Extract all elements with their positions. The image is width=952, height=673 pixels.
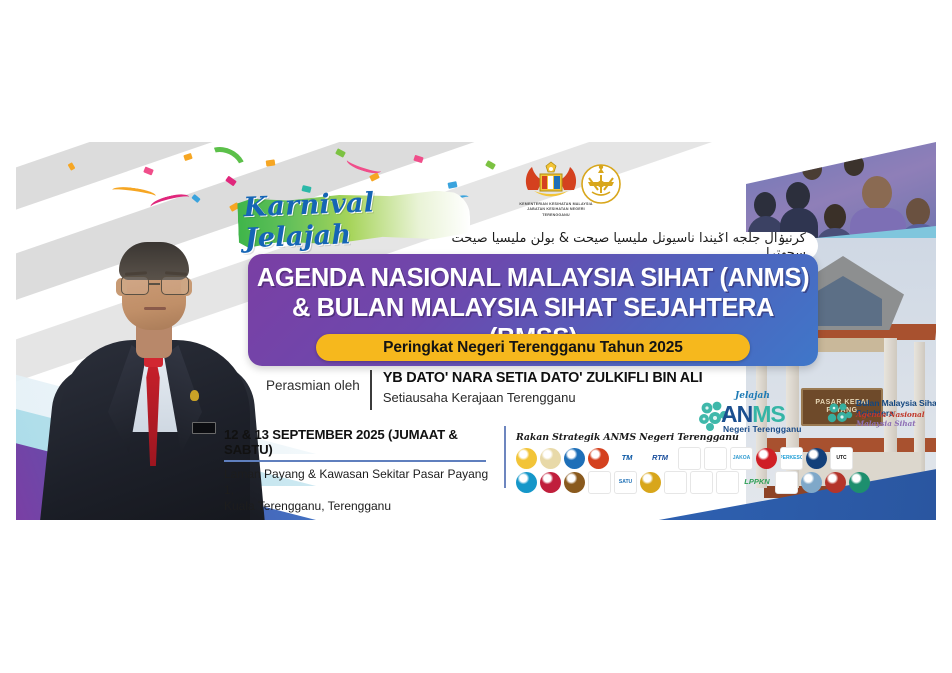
satu-logo: SATU xyxy=(614,471,637,494)
kkm-logo xyxy=(540,472,561,493)
officiated-role: Setiausaha Kerajaan Terengganu xyxy=(383,390,703,405)
partners-section: Rakan Strategik ANMS Negeri Terengganu T… xyxy=(516,432,936,495)
bmss-logo: Bulan Malaysia Sihat Sejahtera Agenda Na… xyxy=(826,396,936,436)
pdrm-crest xyxy=(806,448,827,469)
jakoa-logo: JAKOA xyxy=(730,447,753,470)
bmss-flower-icon xyxy=(826,400,854,428)
venue-line-2: Kuala Terengganu, Terengganu xyxy=(224,499,494,515)
jata-negara-3 xyxy=(588,471,611,494)
date-underline xyxy=(224,460,486,462)
kastam-logo xyxy=(825,472,846,493)
main-title-panel: AGENDA NASIONAL MALAYSIA SIHAT (ANMS) & … xyxy=(248,254,818,366)
raksi-logo xyxy=(849,472,870,493)
officiated-label: Perasmian oleh xyxy=(266,370,360,393)
event-venue: Laman Payang & Kawasan Sekitar Pasar Pay… xyxy=(224,467,494,514)
majlis-agama-crest xyxy=(540,448,561,469)
partner-logo-row-1: TMRTMJAKOAPERKESOUTC xyxy=(516,447,936,469)
page-canvas: PASAR KEDAI PAYANG xyxy=(0,0,952,673)
terengganu-sejahtera-logo xyxy=(690,471,713,494)
bmss-line-2b: Malaysia Sihat xyxy=(856,419,916,428)
venue-line-1: Laman Payang & Kawasan Sekitar Pasar Pay… xyxy=(224,467,494,499)
jata-negara-1 xyxy=(678,447,701,470)
event-banner: PASAR KEDAI PAYANG xyxy=(16,142,936,520)
officiated-by-block: Perasmian oleh YB DATO' NARA SETIA DATO'… xyxy=(266,370,736,416)
rtm-logo: RTM xyxy=(645,448,675,469)
jpj-crest xyxy=(640,472,661,493)
jabatan-crest xyxy=(801,472,822,493)
ukm-crest xyxy=(564,448,585,469)
anms-script-word: Jelajah xyxy=(735,391,770,401)
tm-logo: TM xyxy=(612,448,642,469)
jata-negara-2 xyxy=(704,447,727,470)
jata-2037: 2037 xyxy=(664,471,687,494)
bmss-line-2: Agenda Nasional Malaysia Sihat xyxy=(856,410,936,428)
jata-negara-crest-icon xyxy=(520,160,582,204)
venue-partners-divider xyxy=(504,426,506,488)
vertical-divider xyxy=(370,370,372,410)
jpa-logo xyxy=(516,472,537,493)
lppkn-logo: LPPKN xyxy=(742,472,772,493)
event-date: 12 & 13 SEPTEMBER 2025 (JUMAAT & SABTU) xyxy=(224,427,494,457)
utc-logo: UTC xyxy=(830,447,853,470)
terengganu-state-crest-icon xyxy=(576,162,626,204)
date-venue-block: 12 & 13 SEPTEMBER 2025 (JUMAAT & SABTU) … xyxy=(224,427,494,514)
crest-caption: KEMENTERIAN KESIHATAN MALAYSIAJABATAN KE… xyxy=(514,202,598,218)
maidam-logo xyxy=(775,471,798,494)
eyeglasses-icon xyxy=(120,276,188,293)
jknt-crest xyxy=(516,448,537,469)
kpm-logo xyxy=(564,472,585,493)
jps-logo xyxy=(716,471,739,494)
partners-title: Rakan Strategik ANMS Negeri Terengganu xyxy=(516,432,936,443)
unisza-crest xyxy=(588,448,609,469)
officiated-name: YB DATO' NARA SETIA DATO' ZULKIFLI BIN A… xyxy=(383,370,703,387)
partner-logo-row-2: SATU2037LPPKN xyxy=(516,471,936,493)
bomba-logo xyxy=(756,448,777,469)
name-badge xyxy=(192,422,216,434)
perkeso-logo: PERKESO xyxy=(780,447,803,470)
lapel-pin-icon xyxy=(190,390,199,401)
level-year-pill: Peringkat Negeri Terengganu Tahun 2025 xyxy=(316,334,750,361)
karnival-jelajah-title: Karnival Jelajah xyxy=(243,194,469,245)
bmss-line-2a: Agenda Nasional xyxy=(856,410,924,419)
title-line-1: AGENDA NASIONAL MALAYSIA SIHAT (ANMS) xyxy=(257,264,809,292)
